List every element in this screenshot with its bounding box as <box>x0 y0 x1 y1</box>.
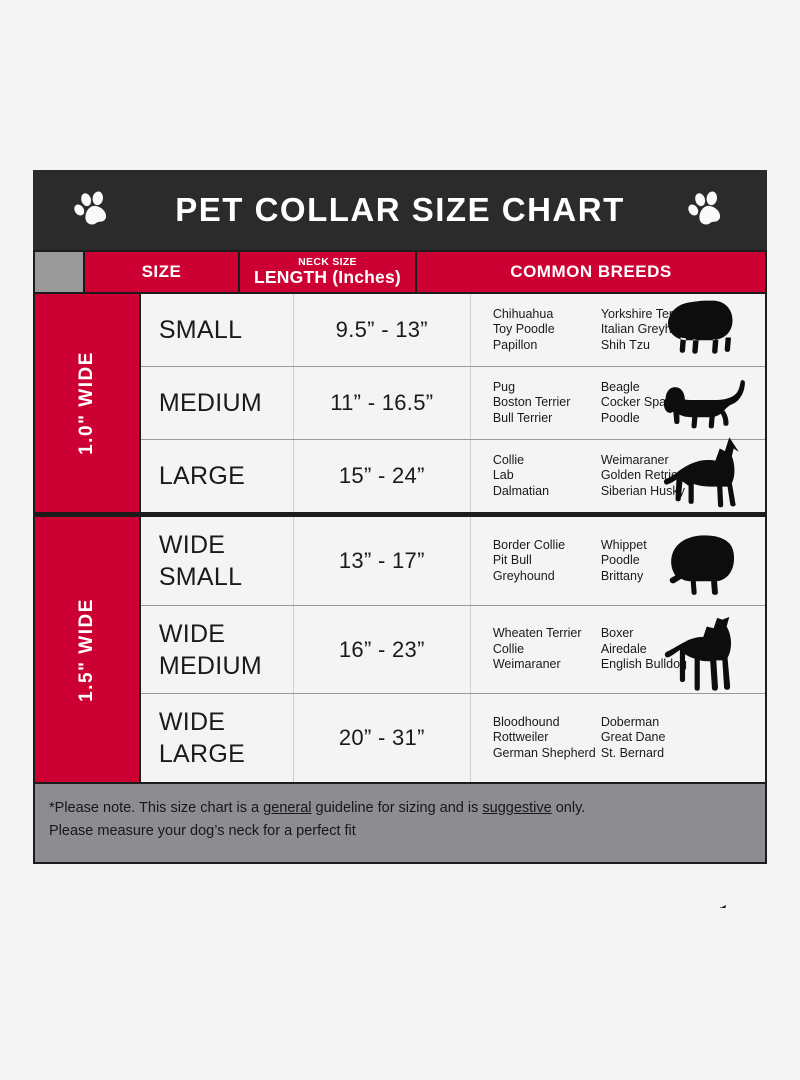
row-size-label: WIDE SMALL <box>141 517 294 605</box>
breed-column-1: Wheaten Terrier Collie Weimaraner <box>493 626 601 673</box>
row-common-breeds: Wheaten Terrier Collie Weimaraner Boxer … <box>471 606 765 694</box>
size-line-1: WIDE <box>159 529 225 561</box>
row-neck-length: 13” - 17” <box>294 517 471 605</box>
row-common-breeds: Chihuahua Toy Poodle Papillon Yorkshire … <box>471 294 765 366</box>
row-common-breeds: Bloodhound Rottweiler German Shepherd Do… <box>471 694 765 782</box>
row-size-label: SMALL <box>141 294 294 366</box>
row-size-label: MEDIUM <box>141 367 294 439</box>
size-line-2: LARGE <box>159 738 245 770</box>
size-group-1-0-wide: 1.0" WIDE SMALL 9.5” - 13” Chihuahua Toy… <box>33 294 767 514</box>
row-size-label: WIDE MEDIUM <box>141 606 294 694</box>
size-line-1: LARGE <box>159 460 245 492</box>
row-neck-length: 11” - 16.5” <box>294 367 471 439</box>
breed-column-2: Yorkshire Terrier Italian Greyhound Shih… <box>601 307 721 354</box>
table-row: WIDE SMALL 13” - 17” Border Collie Pit B… <box>141 517 765 606</box>
table-column-header-row: SIZE NECK SIZE LENGTH (Inches) COMMON BR… <box>33 250 767 294</box>
footer-disclaimer: *Please note. This size chart is a gener… <box>33 784 767 864</box>
breed-column-2: Whippet Poodle Brittany <box>601 538 721 585</box>
group-label-text: 1.0" WIDE <box>76 351 98 455</box>
breed-column-2: Doberman Great Dane St. Bernard <box>601 715 721 762</box>
footer-underline-suggestive: suggestive <box>482 800 551 816</box>
size-line-1: MEDIUM <box>159 387 262 419</box>
column-header-common-breeds: COMMON BREEDS <box>415 250 767 294</box>
row-common-breeds: Collie Lab Dalmatian Weimaraner Golden R… <box>471 440 765 512</box>
breed-column-1: Pug Boston Terrier Bull Terrier <box>493 380 601 427</box>
table-row: MEDIUM 11” - 16.5” Pug Boston Terrier Bu… <box>141 367 765 440</box>
footer-text-a: *Please note. This size chart is a <box>49 800 263 816</box>
footer-line-2: Please measure your dog’s neck for a per… <box>49 820 749 843</box>
paw-print-icon <box>685 188 729 232</box>
breed-column-1: Chihuahua Toy Poodle Papillon <box>493 307 601 354</box>
chart-header-bar: PET COLLAR SIZE CHART <box>33 170 767 250</box>
footer-underline-general: general <box>263 800 311 816</box>
group-1-rows: SMALL 9.5” - 13” Chihuahua Toy Poodle Pa… <box>141 294 765 512</box>
row-neck-length: 20” - 31” <box>294 694 471 782</box>
row-neck-length: 16” - 23” <box>294 606 471 694</box>
row-neck-length: 9.5” - 13” <box>294 294 471 366</box>
group-2-rows: WIDE SMALL 13” - 17” Border Collie Pit B… <box>141 517 765 782</box>
header-corner-cell <box>33 250 83 294</box>
size-line-2: SMALL <box>159 561 242 593</box>
table-row: LARGE 15” - 24” Collie Lab Dalmatian Wei… <box>141 440 765 512</box>
page-title: PET COLLAR SIZE CHART <box>175 191 625 229</box>
row-neck-length: 15” - 24” <box>294 440 471 512</box>
group-label-1-5-wide: 1.5" WIDE <box>35 517 141 782</box>
footer-text-c: only. <box>552 800 586 816</box>
footer-line-1: *Please note. This size chart is a gener… <box>49 797 749 820</box>
doberman-silhouette-icon <box>617 905 747 908</box>
size-line-1: SMALL <box>159 314 242 346</box>
breed-column-2: Boxer Airedale English Bulldog <box>601 626 721 673</box>
row-size-label: WIDE LARGE <box>141 694 294 782</box>
footer-text-b: guideline for sizing and is <box>312 800 483 816</box>
table-row: WIDE LARGE 20” - 31” Bloodhound Rottweil… <box>141 694 765 782</box>
breed-column-1: Border Collie Pit Bull Greyhound <box>493 538 601 585</box>
column-header-length-inches: LENGTH (Inches) <box>254 268 401 287</box>
breed-column-2: Beagle Cocker Spaniel Poodle <box>601 380 721 427</box>
group-label-text: 1.5" WIDE <box>76 598 98 702</box>
breed-column-1: Bloodhound Rottweiler German Shepherd <box>493 715 601 762</box>
size-line-2: MEDIUM <box>159 650 262 682</box>
row-common-breeds: Pug Boston Terrier Bull Terrier Beagle C… <box>471 367 765 439</box>
row-common-breeds: Border Collie Pit Bull Greyhound Whippet… <box>471 517 765 605</box>
breed-column-2: Weimaraner Golden Retriever Siberian Hus… <box>601 453 721 500</box>
size-line-1: WIDE <box>159 706 225 738</box>
table-row: SMALL 9.5” - 13” Chihuahua Toy Poodle Pa… <box>141 294 765 367</box>
size-line-1: WIDE <box>159 618 225 650</box>
column-header-size: SIZE <box>83 250 238 294</box>
row-size-label: LARGE <box>141 440 294 512</box>
size-group-1-5-wide: 1.5" WIDE WIDE SMALL 13” - 17” Border Co… <box>33 514 767 784</box>
breed-column-1: Collie Lab Dalmatian <box>493 453 601 500</box>
group-label-1-0-wide: 1.0" WIDE <box>35 294 141 512</box>
column-header-neck-length: NECK SIZE LENGTH (Inches) <box>238 250 415 294</box>
pet-collar-size-chart-card: PET COLLAR SIZE CHART SIZE NECK SIZE LEN… <box>33 170 767 908</box>
table-row: WIDE MEDIUM 16” - 23” Wheaten Terrier Co… <box>141 606 765 695</box>
paw-print-icon <box>71 188 115 232</box>
